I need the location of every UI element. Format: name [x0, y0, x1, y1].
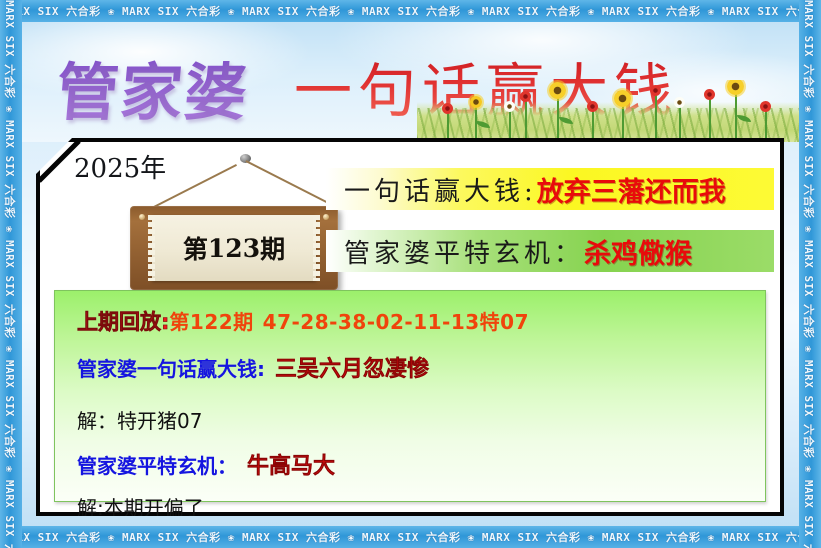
flower-decoration	[417, 80, 799, 142]
border-top: MARX SIX 六合彩 ❀ MARX SIX 六合彩 ❀ MARX SIX 六…	[0, 0, 821, 22]
answer-row-1: 解： 特开猪07	[77, 405, 765, 434]
answer-2-label: 解:本期开偏了	[77, 492, 204, 521]
sign-paper: 第 123 期	[152, 215, 316, 281]
review-special-label: 特	[480, 306, 501, 335]
panel-inner: 2025年 第 123 期 一句话赢大钱:	[40, 142, 780, 512]
tip-1-label: 管家婆一句话赢大钱:	[77, 353, 265, 382]
tip-2-label: 管家婆平特玄机：	[77, 450, 237, 479]
header-band: 管家婆 一句话赢大钱	[22, 22, 799, 142]
review-special-number: 07	[500, 310, 529, 334]
answer-1-label: 解：	[77, 405, 117, 434]
flower-stem	[735, 90, 737, 138]
issue-prefix: 第	[183, 230, 208, 266]
white-flower-icon	[504, 101, 515, 112]
poster-root: 管家婆 一句话赢大钱	[0, 0, 821, 548]
board-hole-right	[323, 214, 329, 220]
flower-stem	[509, 108, 511, 138]
banner-yellow-label: 一句话赢大钱:	[344, 171, 537, 208]
banner-yellow: 一句话赢大钱: 放弃三藩还而我	[326, 168, 774, 210]
banner-green-label: 管家婆平特玄机：	[344, 233, 584, 270]
yellow-flower-icon	[614, 90, 631, 107]
flower-stem	[525, 98, 527, 138]
border-right-text: MARX SIX 六合彩 ❀ MARX SIX 六合彩 ❀ MARX SIX 六…	[801, 0, 817, 548]
flower-stem	[655, 92, 657, 138]
main-panel: 2025年 第 123 期 一句话赢大钱:	[36, 138, 784, 516]
red-flower-icon	[520, 91, 531, 102]
flower-stem	[557, 94, 559, 138]
brand-title: 管家婆	[53, 42, 253, 132]
yellow-flower-icon	[727, 80, 744, 95]
yellow-flower-icon	[470, 96, 482, 108]
board-hole-left	[139, 214, 145, 220]
red-flower-icon	[760, 101, 771, 112]
border-bottom: MARX SIX 六合彩 ❀ MARX SIX 六合彩 ❀ MARX SIX 六…	[0, 526, 821, 548]
red-flower-icon	[650, 85, 661, 96]
flower-stem	[622, 102, 624, 138]
border-bottom-text: MARX SIX 六合彩 ❀ MARX SIX 六合彩 ❀ MARX SIX 六…	[0, 529, 821, 545]
border-top-text: MARX SIX 六合彩 ❀ MARX SIX 六合彩 ❀ MARX SIX 六…	[0, 3, 821, 19]
flower-stem	[765, 108, 767, 138]
tip-2-value: 牛高马大	[247, 448, 335, 480]
sign-board: 第 123 期	[130, 206, 338, 290]
content-box: 上期回放: 第122期 47-28-38-02-11-13 特 07 管家婆一句…	[54, 290, 766, 502]
review-numbers: 47-28-38-02-11-13	[263, 310, 480, 334]
white-flower-icon	[674, 97, 685, 108]
review-issue: 第122期	[169, 306, 253, 335]
review-label: 上期回放:	[77, 306, 169, 336]
issue-number: 123	[208, 234, 260, 263]
border-left: MARX SIX 六合彩 ❀ MARX SIX 六合彩 ❀ MARX SIX 六…	[0, 0, 22, 548]
flower-stem	[592, 108, 594, 138]
tip-row-2: 管家婆平特玄机： 牛高马大	[77, 448, 765, 480]
tip-1-value: 三吴六月忽凄惨	[275, 351, 429, 383]
banner-yellow-value: 放弃三藩还而我	[537, 170, 726, 209]
review-row: 上期回放: 第122期 47-28-38-02-11-13 特 07	[77, 306, 765, 336]
flower-stem	[447, 112, 449, 138]
tip-row-1: 管家婆一句话赢大钱: 三吴六月忽凄惨	[77, 351, 765, 383]
banner-green-value: 杀鸡儆猴	[584, 232, 692, 271]
banner-green: 管家婆平特玄机： 杀鸡儆猴	[326, 230, 774, 272]
flower-stem	[679, 104, 681, 138]
answer-1-value: 特开猪07	[117, 405, 202, 434]
border-left-text: MARX SIX 六合彩 ❀ MARX SIX 六合彩 ❀ MARX SIX 六…	[2, 0, 18, 548]
answer-row-2: 解:本期开偏了	[77, 492, 765, 521]
issue-suffix: 期	[260, 230, 285, 266]
red-flower-icon	[587, 101, 598, 112]
border-right: MARX SIX 六合彩 ❀ MARX SIX 六合彩 ❀ MARX SIX 六…	[799, 0, 821, 548]
flower-stem	[709, 96, 711, 138]
red-flower-icon	[704, 89, 715, 100]
yellow-flower-icon	[549, 82, 566, 99]
red-flower-icon	[442, 103, 453, 114]
